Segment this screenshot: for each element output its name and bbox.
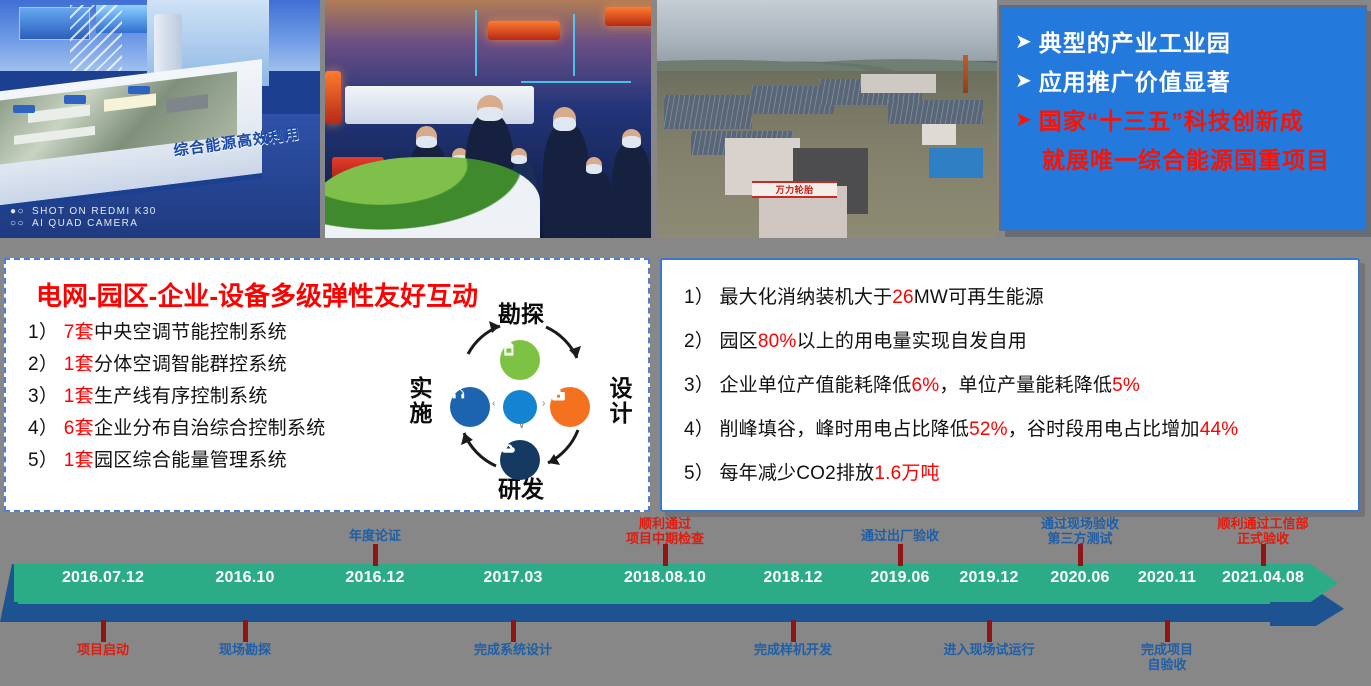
redmi-logo-icon: ●○ [10,206,32,218]
arrow-bullet-icon: ➤ [1015,29,1032,55]
leaders-visit-photo [325,0,651,238]
list-item-text: 每年减少CO2排放 [719,463,874,484]
solar-roof-4 [888,100,983,124]
timeline-caption-line: 正式验收 [1217,531,1308,546]
list-item: 5） 每年减少CO2排放1.6万吨 [684,452,1342,496]
list-item-text: 生产线有序控制系统 [94,386,268,407]
timeline-caption: 完成系统设计 [474,642,552,657]
workshop-building-1 [861,74,936,93]
list-item-text: 园区 [719,331,757,352]
list-item-number: 4） [28,418,58,439]
timeline-stem [373,544,378,566]
hub-icon [503,390,537,424]
arrow-bullet-icon: ➤ [1015,68,1032,94]
glow-line-1 [475,10,477,77]
list-item-highlight: 52% [969,419,1008,440]
timeline-caption-line: 完成样机开发 [754,642,832,657]
list-item-number: 5） [28,450,58,471]
headset-icon [450,387,490,427]
timeline-caption: 完成样机开发 [754,642,832,657]
right-content-panel: 1） 最大化消纳装机大于26MW可再生能源 2） 园区80%以上的用电量实现自发… [660,258,1360,512]
list-item-highlight: 80% [758,331,797,352]
timeline-caption: 完成项目自验收 [1141,642,1193,672]
timeline-caption-line: 项目中期检查 [626,531,704,546]
lifecycle-diagram: 勘探 设计 研发 实施 ^ ∨ ‹ › [406,302,634,502]
list-item-highlight: 26 [892,287,914,308]
list-item-count: 1套 [64,450,94,471]
list-item-text: 中央空调节能控制系统 [94,322,287,343]
attendee-2-mask [416,136,437,148]
timeline-caption-line: 自验收 [1141,657,1193,672]
callout-bullet-1: ➤ 典型的产业工业园 [1015,29,1355,57]
list-item-highlight: 44% [1200,419,1239,440]
briefcase-icon [550,387,590,427]
timeline-stem [511,620,516,642]
chevron-right-icon: › [542,398,545,409]
list-item-text: 园区综合能量管理系统 [94,450,287,471]
list-item-text: MW可再生能源 [914,287,1044,308]
slide-canvas: 综合能源高效利用 ●○SHOT ON REDMI K30 ○○AI QUAD C… [0,0,1371,686]
timeline-date: 2018.08.10 [624,569,706,587]
cycle-label-top: 勘探 [498,302,544,327]
timeline-caption: 顺利通过工信部正式验收 [1217,516,1308,546]
list-item-number: 1） [28,322,58,343]
list-item-text: 分体空调智能群控系统 [94,354,287,375]
timeline-stem [1165,620,1170,642]
list-item-count: 7套 [64,322,94,343]
blue-roof-warehouse [929,148,983,179]
quad-camera-icon: ○○ [10,218,32,230]
glow-line-3 [521,81,632,83]
list-item-text: 以上的用电量实现自发自用 [797,331,1027,352]
led-screen-1 [488,21,560,40]
list-item-number: 3） [684,375,714,396]
cloud-upload-icon [500,440,540,480]
list-item: 2） 园区80%以上的用电量实现自发自用 [684,320,1342,364]
callout-bullet-3-text: 国家“十三五”科技创新成 [1039,107,1304,135]
watermark-line-2: AI QUAD CAMERA [32,218,138,229]
led-banner-left [325,71,341,123]
attendee-5-mask [511,155,527,165]
right-panel-list: 1） 最大化消纳装机大于26MW可再生能源 2） 园区80%以上的用电量实现自发… [684,276,1342,496]
list-item-text: 企业单位产值能耗降低 [719,375,911,396]
factory-banner: 万力轮胎 [752,181,837,198]
timeline-bar-shadow [18,602,1310,622]
timeline-caption-line: 顺利通过 [626,516,704,531]
callout-bullet-3-continuation: 就展唯一综合能源国重项目 [1042,146,1355,174]
watermark-line-1: SHOT ON REDMI K30 [32,206,157,217]
list-item-number: 3） [28,386,58,407]
document-icon [500,340,540,380]
timeline-caption-line: 年度论证 [349,528,401,543]
timeline-caption-line: 现场勘探 [219,642,271,657]
callout-bullet-2-text: 应用推广价值显著 [1039,68,1231,96]
list-item-highlight: 5% [1112,375,1140,396]
timeline-caption-line: 通过出厂验收 [861,528,939,543]
timeline-stem [898,544,903,566]
list-item-count: 1套 [64,386,94,407]
callout-bullet-2: ➤ 应用推广价值显著 [1015,68,1355,96]
chevron-left-icon: ‹ [492,398,495,409]
list-item-number: 2） [684,331,714,352]
list-item: 4） 削峰填谷，峰时用电占比降低52%，谷时段用电占比增加44% [684,408,1342,452]
timeline-caption: 现场勘探 [219,642,271,657]
attendee-8-mask [622,136,642,148]
list-item-count: 6套 [64,418,94,439]
foreground-terrain-model [325,157,540,238]
timeline-caption-line: 顺利通过工信部 [1217,516,1308,531]
timeline-date: 2019.06 [870,569,929,587]
solar-roof-1 [664,95,752,128]
list-item-highlight: 6% [911,375,939,396]
list-item-text: 削峰填谷，峰时用电占比降低 [719,419,969,440]
timeline-date: 2016.10 [215,569,274,587]
timeline-date: 2019.12 [959,569,1018,587]
central-figure-mask [477,107,503,121]
list-item-text: 最大化消纳装机大于 [719,287,892,308]
list-item-text: ，单位产量能耗降低 [939,375,1112,396]
timeline-stem [987,620,992,642]
timeline-date: 2020.11 [1138,569,1196,587]
timeline-caption: 进入现场试运行 [943,642,1034,657]
attendee-6-mask [553,117,576,131]
timeline-stem [243,620,248,642]
blue-callout-box: ➤ 典型的产业工业园 ➤ 应用推广价值显著 ➤ 国家“十三五”科技创新成 就展唯… [999,5,1367,231]
cycle-label-left: 实施 [408,376,434,426]
model-marker-2 [64,95,86,103]
callout-bullet-1-text: 典型的产业工业园 [1039,29,1231,57]
timeline-caption: 项目启动 [77,642,129,657]
attendee-7-mask [586,164,602,174]
timeline-stem [1078,544,1083,566]
project-timeline: 2016.07.12项目启动2016.10现场勘探2016.12年度论证2017… [0,516,1371,686]
list-item: 1） 最大化消纳装机大于26MW可再生能源 [684,276,1342,320]
silo-block [922,124,956,145]
timeline-caption-line: 通过现场验收 [1041,516,1119,531]
attendee-8 [612,143,651,238]
timeline-date: 2020.06 [1050,569,1109,587]
booth-lattice-structure [70,5,121,72]
timeline-caption: 顺利通过项目中期检查 [626,516,704,546]
list-item-number: 1） [684,287,714,308]
exhibit-panel [345,86,534,124]
list-item-number: 2） [28,354,58,375]
timeline-date: 2021.04.08 [1222,569,1304,587]
callout-bullet-3: ➤ 国家“十三五”科技创新成 [1015,107,1355,135]
chimney-stack [963,55,968,93]
timeline-caption-line: 进入现场试运行 [943,642,1034,657]
list-item-highlight: 1.6万吨 [874,463,939,484]
aerial-factory-photo: 万力轮胎 [657,0,997,238]
timeline-stem [101,620,106,642]
timeline-caption: 年度论证 [349,528,401,543]
exhibition-model-photo: 综合能源高效利用 ●○SHOT ON REDMI K30 ○○AI QUAD C… [0,0,320,238]
camera-watermark: ●○SHOT ON REDMI K30 ○○AI QUAD CAMERA [10,206,157,230]
timeline-stem [663,544,668,566]
cycle-label-bottom: 研发 [498,477,544,502]
timeline-date: 2016.12 [345,569,404,587]
timeline-caption-line: 完成项目 [1141,642,1193,657]
left-content-panel: 电网-园区-企业-设备多级弹性友好互动 1） 7套中央空调节能控制系统 2） 1… [4,258,650,512]
timeline-caption-line: 项目启动 [77,642,129,657]
led-screen-2 [605,7,651,26]
list-item-number: 4） [684,419,714,440]
cycle-label-right: 设计 [608,376,634,426]
timeline-date: 2017.03 [483,569,542,587]
arrow-bullet-icon: ➤ [1015,107,1032,133]
model-marker-1 [13,105,35,113]
attendee-7 [583,171,612,238]
timeline-caption-line: 第三方测试 [1041,531,1119,546]
list-item: 3） 企业单位产值能耗降低6%，单位产量能耗降低5% [684,364,1342,408]
timeline-caption: 通过现场验收第三方测试 [1041,516,1119,546]
list-item-number: 5） [684,463,714,484]
list-item-text: ，谷时段用电占比增加 [1008,419,1200,440]
list-item-text: 企业分布自治综合控制系统 [94,418,326,439]
timeline-stem [1261,544,1266,566]
timeline-caption-line: 完成系统设计 [474,642,552,657]
model-marker-3 [128,86,150,94]
timeline-arrow-head [1266,550,1358,636]
timeline-date: 2018.12 [763,569,822,587]
timeline-stem [791,620,796,642]
glow-line-2 [573,14,575,76]
timeline-date: 2016.07.12 [62,569,144,587]
list-item-count: 1套 [64,354,94,375]
timeline-caption: 通过出厂验收 [861,528,939,543]
